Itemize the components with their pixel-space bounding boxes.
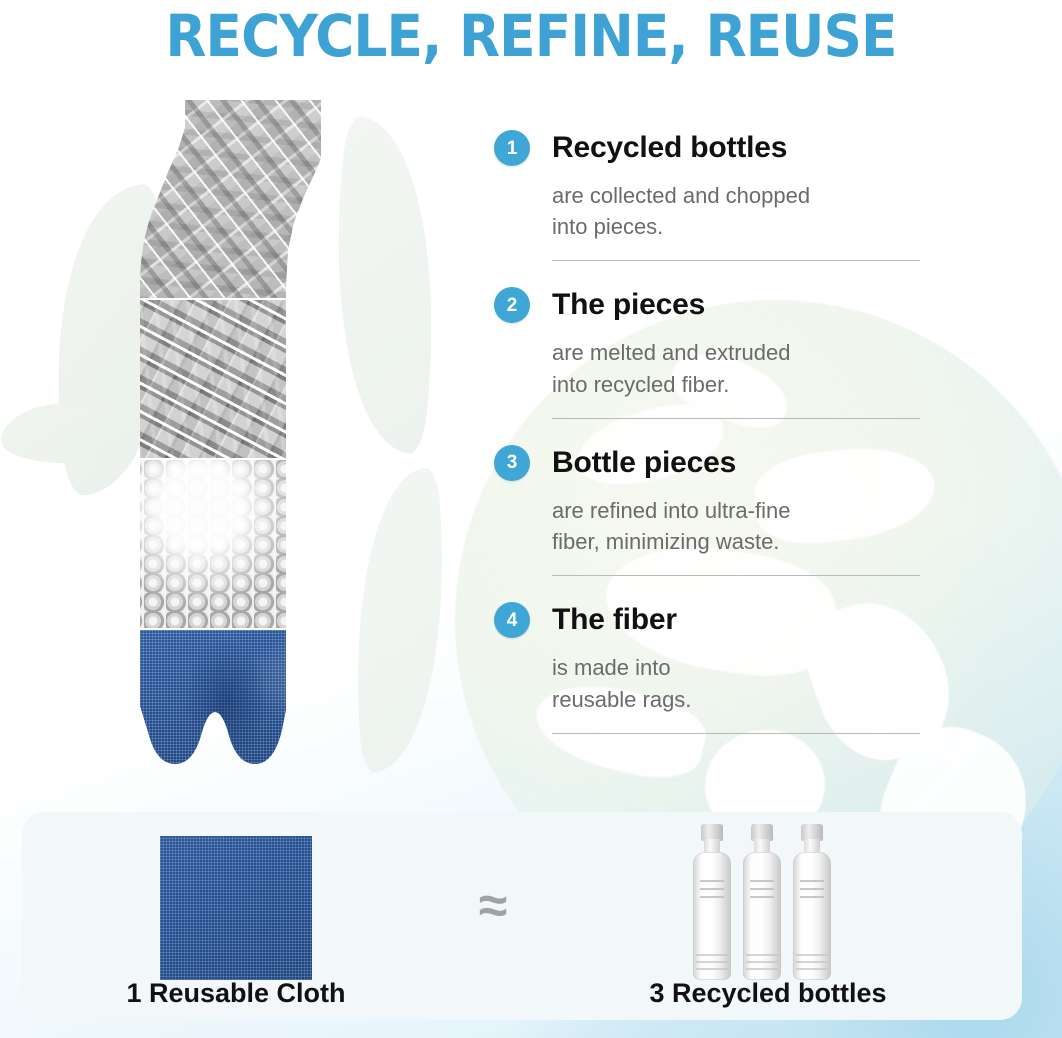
step-description: are melted and extruded into recycled fi… (552, 337, 934, 399)
bottle-band-01: 01 (122, 100, 384, 300)
step-number-badge: 3 (494, 445, 530, 481)
recycled-bottles-image (692, 824, 832, 980)
step-divider (552, 418, 920, 419)
step-number-badge: 4 (494, 602, 530, 638)
bottle-base-ridges (696, 954, 728, 970)
process-step: 2 The pieces are melted and extruded int… (494, 287, 934, 418)
cloth-caption: 1 Reusable Cloth (60, 978, 412, 1009)
bottle-base-ridges (746, 954, 778, 970)
band-number-02: 02 (313, 414, 368, 458)
step-title: The pieces (552, 290, 705, 320)
step-description: are refined into ultra-fine fiber, minim… (552, 495, 934, 557)
band-number-03: 03 (313, 584, 368, 628)
step-header: 1 Recycled bottles (494, 130, 934, 166)
page-title: RECYCLE, REFINE, REUSE (42, 2, 1019, 70)
leaf-watermark (0, 384, 139, 483)
bottle-band-03: 03 (122, 460, 384, 630)
step-number-badge: 1 (494, 130, 530, 166)
bottle-rings (800, 876, 824, 898)
step-header: 2 The pieces (494, 287, 934, 323)
bottle-silhouette: 01 02 03 04 (122, 100, 384, 790)
step-divider (552, 733, 920, 734)
step-divider (552, 575, 920, 576)
process-step-list: 1 Recycled bottles are collected and cho… (494, 130, 934, 734)
step-description: is made into reusable rags. (552, 652, 934, 714)
step-title: Bottle pieces (552, 448, 736, 478)
infographic-canvas: RECYCLE, REFINE, REUSE 01 02 03 04 1 (0, 0, 1062, 1038)
approximately-equal-icon: ≈ (462, 878, 524, 934)
step-title: Recycled bottles (552, 133, 787, 163)
bottle-band-02: 02 (122, 300, 384, 460)
step-header: 4 The fiber (494, 602, 934, 638)
band-number-01: 01 (313, 254, 368, 298)
bottle-base-ridges (796, 954, 828, 970)
mini-bottle (692, 824, 732, 980)
bottle-band-04: 04 (122, 630, 384, 790)
step-title: The fiber (552, 605, 677, 635)
bottle-rings (750, 876, 774, 898)
process-step: 3 Bottle pieces are refined into ultra-f… (494, 445, 934, 576)
mini-bottle (742, 824, 782, 980)
band-number-04: 04 (313, 700, 368, 744)
bottle-diagram: 01 02 03 04 (122, 100, 384, 790)
mini-bottle (792, 824, 832, 980)
process-step: 4 The fiber is made into reusable rags. (494, 602, 934, 733)
step-description: are collected and chopped into pieces. (552, 180, 934, 242)
bottles-caption: 3 Recycled bottles (570, 978, 966, 1009)
step-header: 3 Bottle pieces (494, 445, 934, 481)
bottle-rings (700, 876, 724, 898)
cloth-swatch-image (160, 836, 312, 980)
step-divider (552, 260, 920, 261)
step-number-badge: 2 (494, 287, 530, 323)
process-step: 1 Recycled bottles are collected and cho… (494, 130, 934, 261)
